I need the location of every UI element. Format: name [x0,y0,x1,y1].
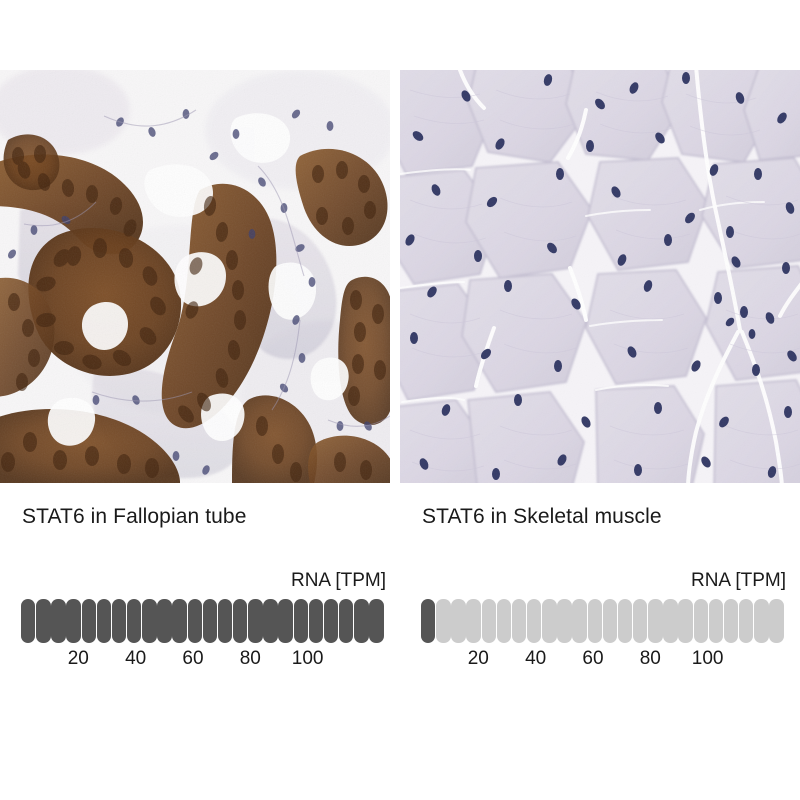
rna-bar-segment [633,599,647,643]
rna-axis-tick: 80 [640,648,661,670]
rna-axis-tick: 80 [240,648,261,670]
rna-bar-segment [36,599,50,643]
rna-bar-segment [324,599,338,643]
rna-bar-segment [436,599,450,643]
rna-bar-segment [278,599,292,643]
skeletal-muscle-tissue-image [400,70,800,483]
rna-bar-segment [248,599,262,643]
rna-expression-bar-fallopian-tube: RNA [TPM] 20406080100 [21,570,386,680]
rna-bar-segment [97,599,111,643]
rna-bar-segment [233,599,247,643]
rna-bar-segment [188,599,202,643]
rna-axis-tick: 40 [125,648,146,670]
rna-axis-tick: 60 [182,648,203,670]
figure-root: STAT6 in Fallopian tube STAT6 in Skeleta… [0,0,800,800]
rna-bar-segment [421,599,435,643]
rna-bar-segment [451,599,465,643]
rna-axis-tick: 100 [292,648,324,670]
rna-bar-segment [618,599,632,643]
rna-bar-segment [497,599,511,643]
rna-bar-track-left[interactable] [21,599,385,643]
rna-bar-segment [588,599,602,643]
rna-bar-segment [51,599,65,643]
rna-bar-segment [769,599,783,643]
rna-bar-segment [678,599,692,643]
rna-bar-segment [542,599,556,643]
rna-axis-ticks-right: 20406080100 [421,648,785,674]
rna-bar-segment [354,599,368,643]
rna-bar-segment [369,599,383,643]
rna-bar-segment [648,599,662,643]
panel-title-fallopian-tube: STAT6 in Fallopian tube [22,505,246,529]
rna-expression-bar-skeletal-muscle: RNA [TPM] 20406080100 [421,570,786,680]
rna-bar-segment [572,599,586,643]
rna-bar-segment [754,599,768,643]
panel-title-skeletal-muscle: STAT6 in Skeletal muscle [422,505,662,529]
rna-bar-segment [724,599,738,643]
rna-bar-segment [66,599,80,643]
rna-bar-segment [482,599,496,643]
rna-bar-segment [694,599,708,643]
rna-bar-segment [512,599,526,643]
rna-bar-segment [82,599,96,643]
rna-axis-tick: 60 [582,648,603,670]
rna-bar-segment [203,599,217,643]
rna-axis-tick: 40 [525,648,546,670]
rna-axis-tick: 20 [68,648,89,670]
rna-bar-track-right[interactable] [421,599,785,643]
rna-bar-segment [21,599,35,643]
rna-bar-segment [112,599,126,643]
rna-bar-segment [142,599,156,643]
ihc-micrograph-fallopian-tube[interactable] [0,70,390,483]
rna-bar-segment [127,599,141,643]
rna-bar-segment [466,599,480,643]
ihc-micrograph-skeletal-muscle[interactable] [400,70,800,483]
rna-bar-segment [557,599,571,643]
rna-bar-segment [218,599,232,643]
rna-bar-segment [663,599,677,643]
rna-axis-tick: 100 [692,648,724,670]
rna-bar-segment [309,599,323,643]
rna-bar-segment [172,599,186,643]
rna-axis-ticks-left: 20406080100 [21,648,385,674]
rna-bar-segment [157,599,171,643]
rna-tpm-label-right: RNA [TPM] [691,570,786,592]
rna-bar-segment [603,599,617,643]
rna-bar-segment [739,599,753,643]
rna-tpm-label-left: RNA [TPM] [291,570,386,592]
fallopian-tube-tissue-image [0,70,390,483]
rna-bar-segment [263,599,277,643]
rna-bar-segment [339,599,353,643]
rna-bar-segment [709,599,723,643]
rna-bar-segment [527,599,541,643]
rna-bar-segment [294,599,308,643]
rna-axis-tick: 20 [468,648,489,670]
